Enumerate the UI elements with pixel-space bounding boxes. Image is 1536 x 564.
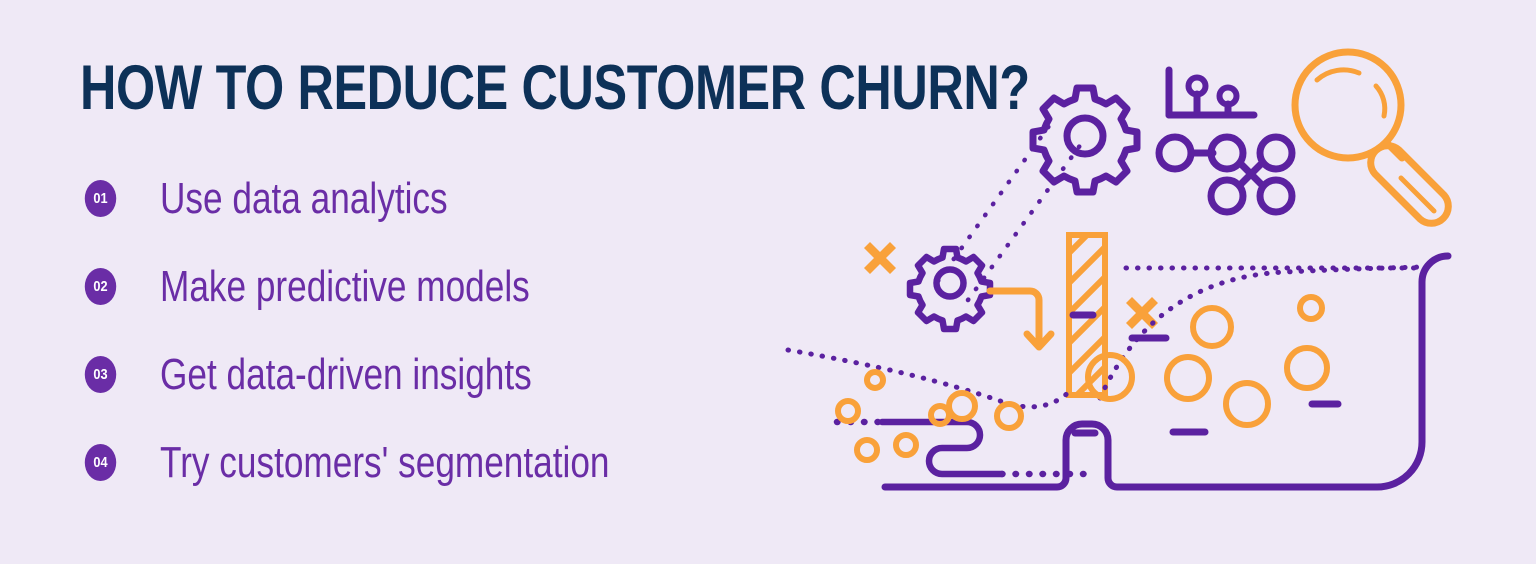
step-label: Get data-driven insights [160, 347, 532, 403]
step-number-badge: 03 [85, 356, 116, 393]
step-number-badge: 01 [85, 180, 116, 217]
illustration [700, 0, 1536, 564]
step-label: Try customers' segmentation [160, 435, 609, 491]
step-label: Use data analytics [160, 171, 448, 227]
gear-large-icon [1033, 88, 1137, 192]
magnifier-icon [1295, 52, 1448, 223]
network-graph-icon [1159, 137, 1292, 212]
infographic-canvas: HOW TO REDUCE CUSTOMER CHURN? 01 Use dat… [0, 0, 1536, 564]
arrow-down-icon [990, 291, 1051, 347]
step-label: Make predictive models [160, 259, 530, 315]
hatched-bar [1060, 207, 1115, 442]
step-number-badge: 02 [85, 268, 116, 305]
lollipop-chart-icon [1169, 70, 1254, 115]
dash-marks [1073, 315, 1338, 433]
step-number-badge: 04 [85, 444, 116, 481]
